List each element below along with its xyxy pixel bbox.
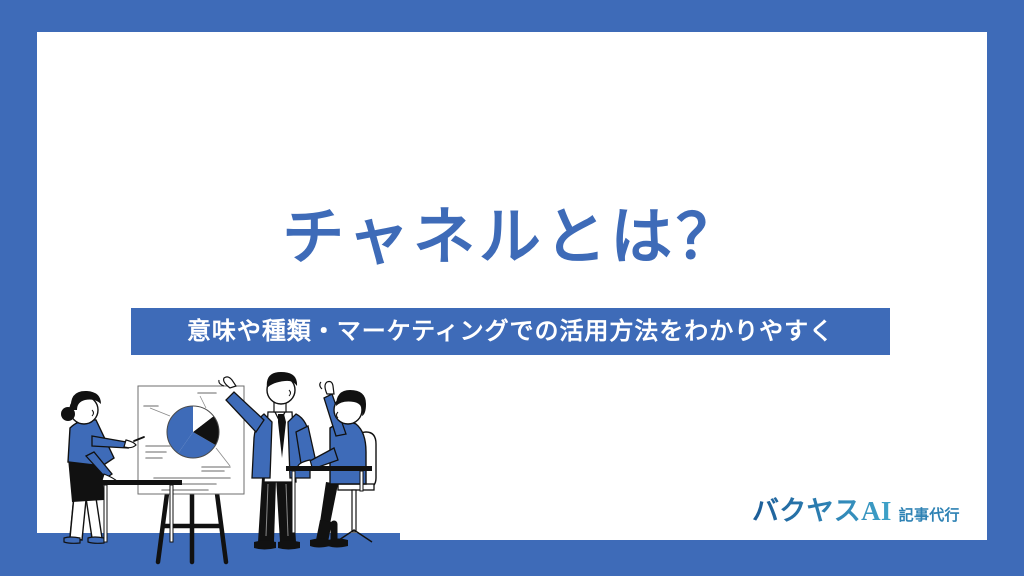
business-team-illustration: [30, 366, 400, 576]
slide-canvas: チャネルとは？ 意味や種類・マーケティングでの活用方法をわかりやすく バクヤスA…: [0, 0, 1024, 576]
brand-logo-sub: 記事代行: [899, 504, 960, 525]
standing-woman-pointing: [61, 391, 144, 543]
brand-logo: バクヤスAI 記事代行: [752, 489, 960, 528]
brand-logo-main: バクヤスAI: [752, 489, 892, 528]
page-title: チャネルとは？: [0, 207, 1024, 269]
board-pie-chart: [167, 406, 219, 458]
subtitle-banner: 意味や種類・マーケティングでの活用方法をわかりやすく: [131, 308, 890, 355]
subtitle-text: 意味や種類・マーケティングでの活用方法をわかりやすく: [187, 320, 834, 344]
seated-person-hand-raised: [298, 382, 376, 548]
